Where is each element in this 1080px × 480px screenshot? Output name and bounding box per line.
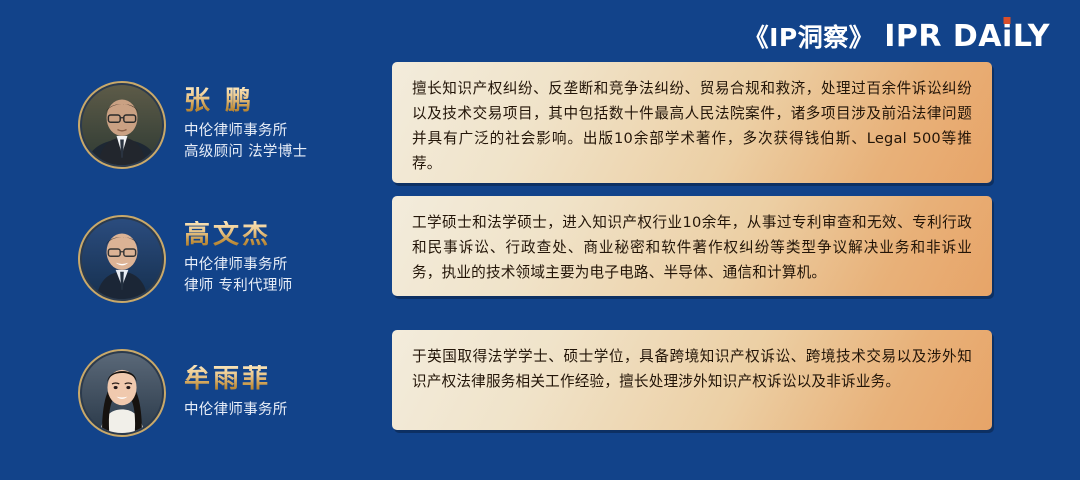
portrait-icon	[82, 353, 162, 433]
avatar	[78, 349, 166, 437]
person-firm: 中伦律师事务所	[184, 121, 307, 142]
brand-logo-prefix: IPR DA	[884, 19, 1002, 54]
person-name: 牟雨菲	[184, 365, 288, 394]
person-firm: 中伦律师事务所	[184, 400, 288, 421]
person-name: 高文杰	[184, 221, 293, 250]
brand-header: 《IP洞察》 IPR DAiLY	[744, 18, 1050, 54]
brand-logo-suffix: LY	[1013, 19, 1050, 54]
person-title: 律师 专利代理师	[184, 276, 293, 297]
person-bio-card: 擅长知识产权纠纷、反垄断和竞争法纠纷、贸易合规和救济，处理过百余件诉讼纠纷以及技…	[392, 62, 992, 183]
profile-row: 牟雨菲 中伦律师事务所 于英国取得法学学士、硕士学位，具备跨境知识产权诉讼、跨境…	[0, 330, 1080, 455]
profile-row: 张 鹏 中伦律师事务所 高级顾问 法学博士 擅长知识产权纠纷、反垄断和竞争法纠纷…	[0, 62, 1080, 187]
person-title: 高级顾问 法学博士	[184, 142, 307, 163]
person-block: 高文杰 中伦律师事务所 律师 专利代理师	[0, 196, 392, 321]
avatar-photo-mou-yufei	[82, 353, 162, 433]
portrait-icon	[82, 85, 162, 165]
person-block: 张 鹏 中伦律师事务所 高级顾问 法学博士	[0, 62, 392, 187]
avatar-photo-zhang-peng	[82, 85, 162, 165]
brand-logo-dotted-i: i	[1002, 19, 1013, 54]
profile-list: 张 鹏 中伦律师事务所 高级顾问 法学博士 擅长知识产权纠纷、反垄断和竞争法纠纷…	[0, 62, 1080, 464]
profile-row: 高文杰 中伦律师事务所 律师 专利代理师 工学硕士和法学硕士，进入知识产权行业1…	[0, 196, 1080, 321]
person-block: 牟雨菲 中伦律师事务所	[0, 330, 392, 455]
portrait-icon	[82, 219, 162, 299]
brand-english-logo: IPR DAiLY	[884, 19, 1050, 54]
person-firm: 中伦律师事务所	[184, 255, 293, 276]
avatar	[78, 215, 166, 303]
person-bio-card: 于英国取得法学学士、硕士学位，具备跨境知识产权诉讼、跨境技术交易以及涉外知识产权…	[392, 330, 992, 430]
person-text: 高文杰 中伦律师事务所 律师 专利代理师	[184, 221, 293, 297]
person-text: 张 鹏 中伦律师事务所 高级顾问 法学博士	[184, 87, 307, 163]
person-bio-card: 工学硕士和法学硕士，进入知识产权行业10余年，从事过专利审查和无效、专利行政和民…	[392, 196, 992, 296]
person-text: 牟雨菲 中伦律师事务所	[184, 365, 288, 420]
person-name: 张 鹏	[184, 87, 307, 116]
avatar	[78, 81, 166, 169]
brand-chinese-title: 《IP洞察》	[744, 18, 875, 54]
avatar-photo-gao-wenjie	[82, 219, 162, 299]
